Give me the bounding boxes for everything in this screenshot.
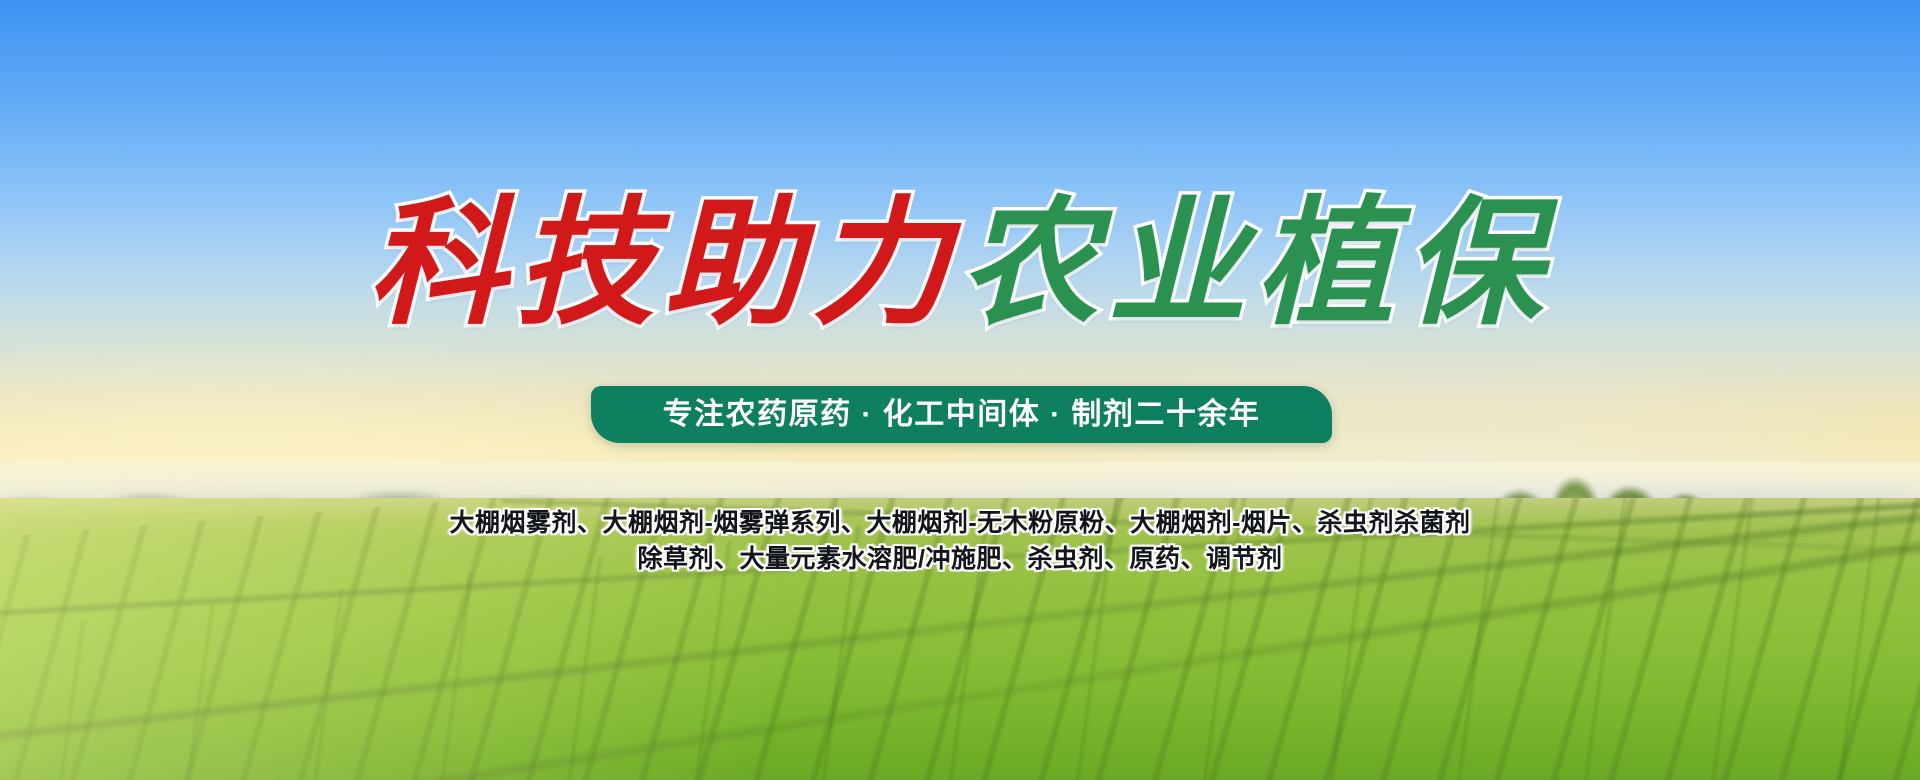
product-list: 大棚烟雾剂、大棚烟剂-烟雾弹系列、大棚烟剂-无木粉原粉、大棚烟剂-烟片、杀虫剂杀… xyxy=(0,505,1920,577)
headline-red-text: 科技助力 xyxy=(368,196,960,334)
headline: 科技助力农业植保 xyxy=(0,196,1920,334)
hero-banner: 科技助力农业植保 专注农药原药 · 化工中间体 · 制剂二十余年 大棚烟雾剂、大… xyxy=(0,0,1920,780)
subtitle-text: 专注农药原药 · 化工中间体 · 制剂二十余年 xyxy=(663,400,1261,430)
subtitle-banner: 专注农药原药 · 化工中间体 · 制剂二十余年 xyxy=(591,386,1332,443)
headline-green-text: 农业植保 xyxy=(960,196,1552,334)
product-line-1: 大棚烟雾剂、大棚烟剂-烟雾弹系列、大棚烟剂-无木粉原粉、大棚烟剂-烟片、杀虫剂杀… xyxy=(0,505,1920,541)
product-line-2: 除草剂、大量元素水溶肥/冲施肥、杀虫剂、原药、调节剂 xyxy=(0,541,1920,577)
